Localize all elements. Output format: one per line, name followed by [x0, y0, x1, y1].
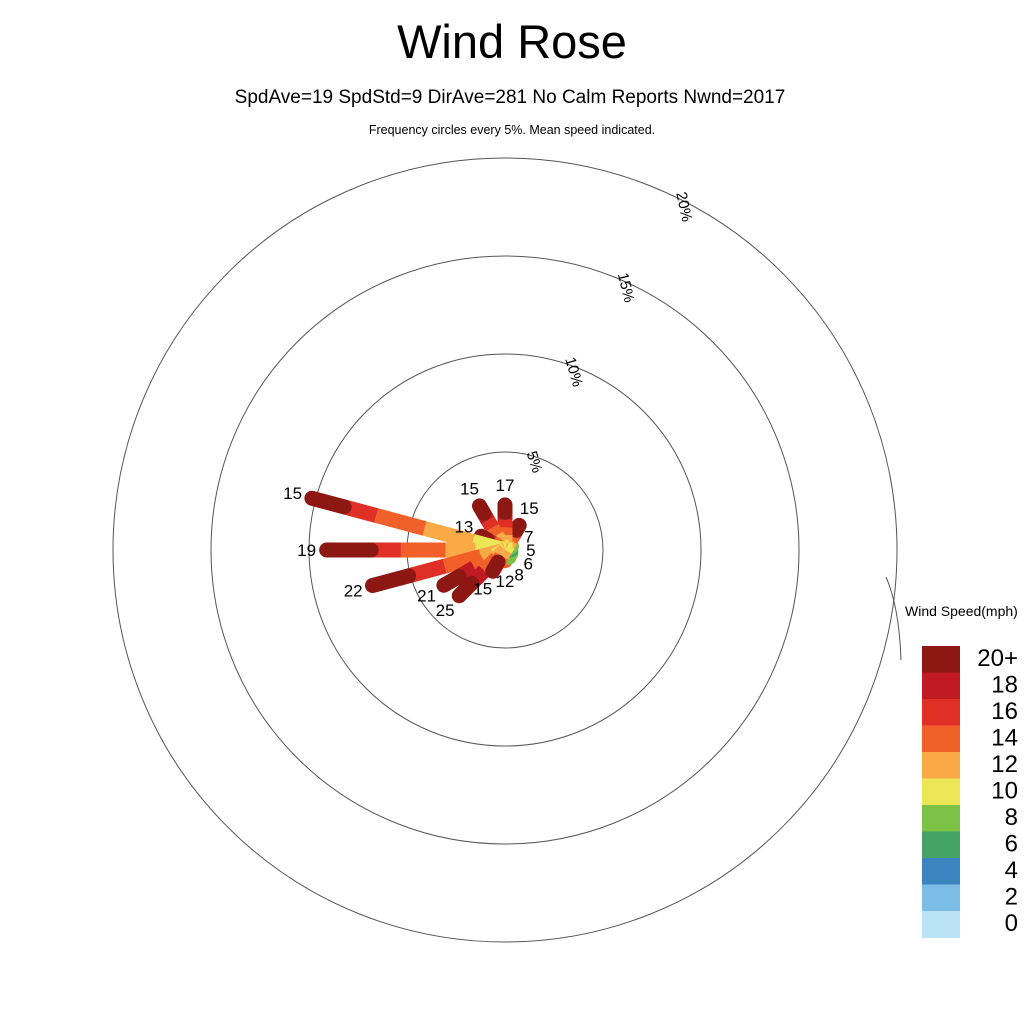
legend-swatch-18[interactable]	[922, 673, 960, 700]
legend-label-18: 18	[991, 672, 1018, 699]
petal-segment	[459, 583, 471, 595]
legend-label-4: 4	[1005, 857, 1018, 884]
legend-swatch-8[interactable]	[922, 805, 960, 832]
wind-rose-svg: Wind Rose SpdAve=19 SpdStd=9 DirAve=281 …	[0, 0, 1024, 1024]
petal-segment	[492, 528, 496, 535]
petal-label-300deg: 21	[417, 586, 436, 605]
petal-segment	[516, 525, 519, 530]
petal-label-0deg: 12	[496, 572, 515, 591]
petal-label-30deg: 8	[514, 565, 523, 584]
legend-swatch-20plus[interactable]	[922, 646, 960, 673]
frequency-note: Frequency circles every 5%. Mean speed i…	[369, 123, 655, 137]
legend-swatch-16[interactable]	[922, 699, 960, 726]
legend-label-8: 8	[1005, 804, 1018, 831]
wind-rose-figure: Wind Rose SpdAve=19 SpdStd=9 DirAve=281 …	[0, 0, 1024, 1024]
legend-label-2: 2	[1005, 884, 1018, 911]
legend-swatch-10[interactable]	[922, 779, 960, 806]
legend-label-6: 6	[1005, 831, 1018, 858]
legend-label-14: 14	[991, 725, 1018, 752]
petal-segment	[493, 562, 498, 571]
petal-label-315deg: 25	[436, 601, 455, 620]
petal-segment	[502, 550, 506, 556]
legend-swatch-6[interactable]	[922, 832, 960, 859]
petal-segment	[312, 498, 344, 507]
petal-segment	[372, 576, 408, 586]
legend-label-16: 16	[991, 698, 1018, 725]
legend-swatch-0[interactable]	[922, 911, 960, 938]
legend-swatch-14[interactable]	[922, 726, 960, 753]
page-title: Wind Rose	[397, 15, 627, 68]
legend-swatch-12[interactable]	[922, 752, 960, 779]
legend-title: Wind Speed(mph)	[905, 603, 1018, 619]
petal-label-255deg: 15	[283, 484, 302, 503]
petal-330deg	[493, 550, 505, 571]
petal-segment	[480, 506, 484, 513]
petal-label-285deg: 22	[344, 582, 363, 601]
petal-label-180deg: 17	[496, 476, 515, 495]
legend-swatch-4[interactable]	[922, 858, 960, 885]
petal-label-120deg: 7	[524, 527, 533, 546]
petal-label-210deg: 15	[460, 480, 479, 499]
petal-label-270deg: 19	[297, 541, 316, 560]
petal-label-150deg: 15	[520, 499, 539, 518]
petal-label-240deg: 13	[454, 517, 473, 536]
petal-label-330deg: 15	[473, 580, 492, 599]
stats-subtitle: SpdAve=19 SpdStd=9 DirAve=281 No Calm Re…	[235, 87, 786, 108]
legend-label-0: 0	[1005, 910, 1018, 937]
legend-label-12: 12	[991, 751, 1018, 778]
petal-segment	[444, 576, 459, 585]
petal-segment	[488, 521, 492, 528]
legend-label-20plus: 20+	[977, 645, 1018, 672]
legend-swatch-2[interactable]	[922, 885, 960, 912]
legend-label-10: 10	[991, 778, 1018, 805]
